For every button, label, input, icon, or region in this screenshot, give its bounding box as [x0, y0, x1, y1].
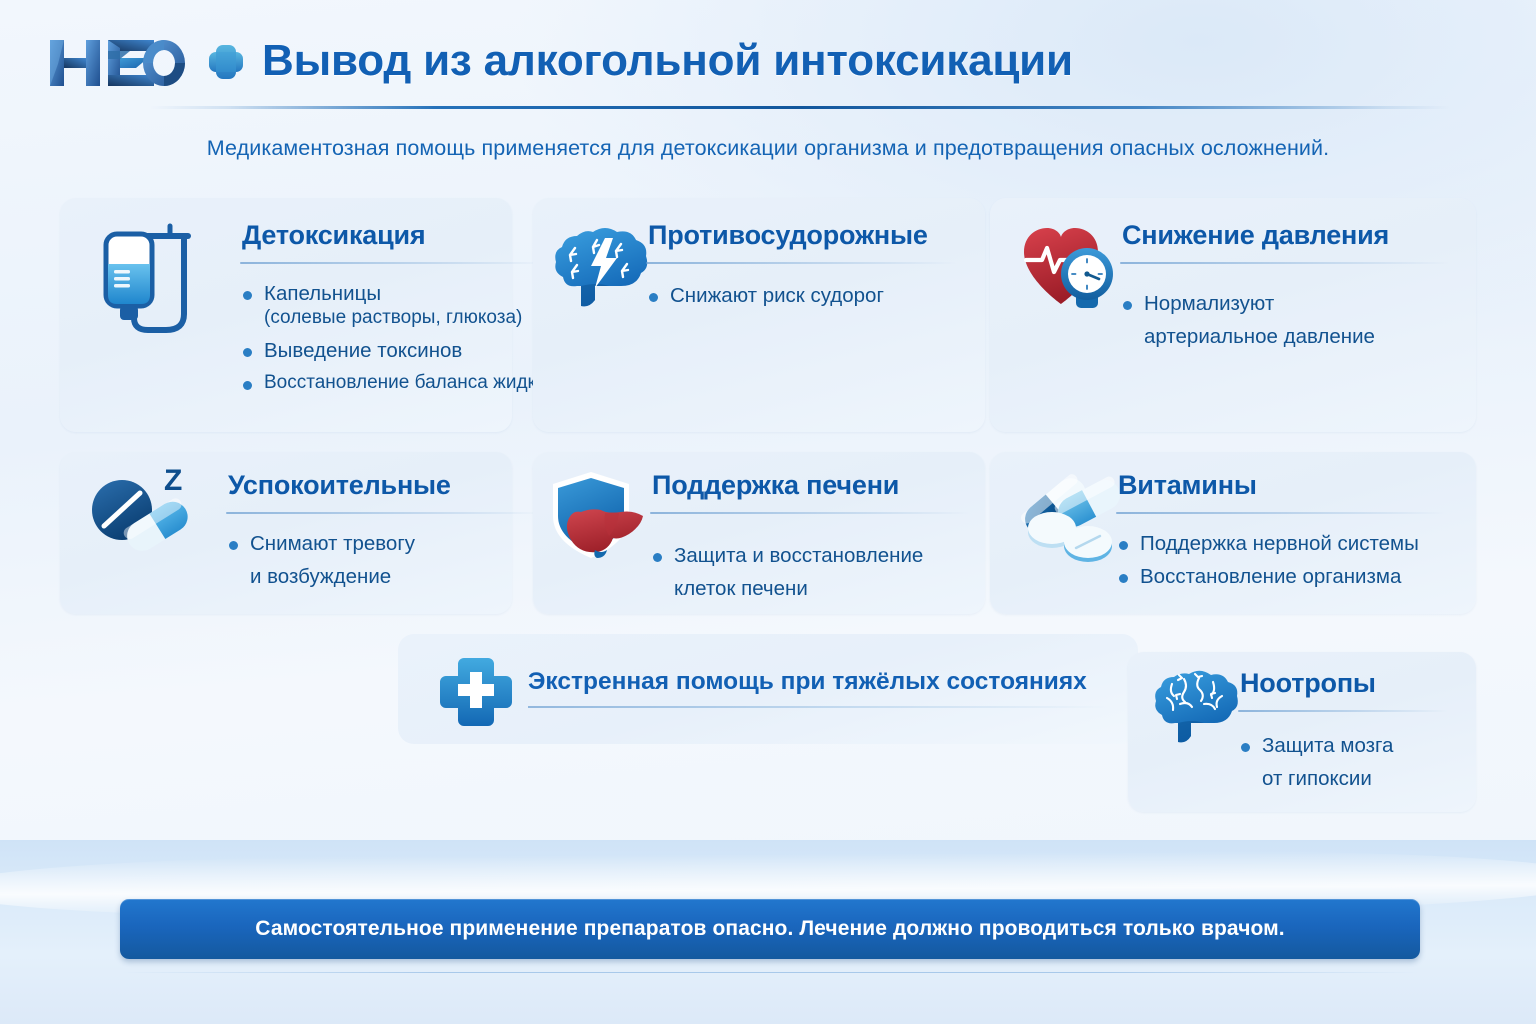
bullet-text: Поддержка нервной системы: [1140, 532, 1419, 555]
pills-capsules-icon: [1002, 462, 1128, 575]
infographic-page: Вывод из алкогольной интоксикации Медика…: [0, 0, 1536, 1024]
list-item: Восстановление баланса жидкости: [240, 370, 560, 395]
card-heading: Детоксикация: [242, 220, 425, 251]
list-item: (солевые растворы, глюкоза): [240, 305, 560, 330]
card-podderzhka-pecheni[interactable]: Поддержка печени Защита и восстановление…: [533, 452, 985, 614]
card-heading-rule: [240, 262, 550, 264]
bullet-text: Защита мозга: [1262, 734, 1393, 757]
sleeping-pill-icon: Z: [80, 460, 200, 565]
card-heading-rule: [1120, 262, 1450, 264]
card-heading: Ноотропы: [1240, 668, 1376, 699]
page-title: Вывод из алкогольной интоксикации: [262, 36, 1073, 86]
heart-pressure-gauge-icon: [1016, 216, 1126, 321]
bullet-text: и возбуждение: [250, 565, 391, 588]
card-protivosudorozhnye[interactable]: Противосудорожные Снижают риск судорог: [533, 198, 985, 432]
medical-cross-icon: [438, 656, 514, 733]
page-subtitle: Медикаментозная помощь применяется для д…: [0, 136, 1536, 161]
bullet-text: от гипоксии: [1262, 767, 1372, 790]
list-item: Выведение токсинов: [240, 337, 560, 364]
card-uspokoitelnye[interactable]: Z Успокоительные Снимают тревогу и возбу…: [60, 452, 512, 614]
list-item: Снижают риск судорог: [646, 282, 966, 309]
list-item: Поддержка нервной системы: [1116, 530, 1466, 557]
bullet-text: Выведение токсинов: [264, 339, 462, 362]
card-vitaminy[interactable]: Витамины Поддержка нервной системы Восст…: [990, 452, 1476, 614]
card-heading: Витамины: [1118, 470, 1257, 501]
card-bullet-list: Поддержка нервной системы Восстановление…: [1116, 530, 1466, 597]
iv-drip-icon: [84, 218, 194, 353]
emergency-banner[interactable]: Экстренная помощь при тяжёлых состояниях: [398, 634, 1138, 744]
card-heading-rule: [226, 512, 546, 514]
page-header: Вывод из алкогольной интоксикации: [0, 0, 1536, 112]
brain-lightning-icon: [551, 220, 655, 317]
card-heading: Снижение давления: [1122, 220, 1389, 251]
footer-hairline: [120, 972, 1420, 973]
bullet-text: Капельницы: [264, 282, 381, 305]
bullet-text: Снимают тревогу: [250, 532, 415, 555]
card-detoxikaciya[interactable]: Детоксикация Капельницы (солевые раствор…: [60, 198, 512, 432]
bullet-text: Нормализуют: [1144, 292, 1274, 315]
card-heading-rule: [646, 262, 956, 264]
list-item: и возбуждение: [226, 563, 546, 590]
bullet-text: (солевые растворы, глюкоза): [264, 307, 522, 328]
list-item: клеток печени: [650, 575, 990, 602]
list-item: Капельницы: [240, 280, 560, 307]
bullet-text: Восстановление организма: [1140, 565, 1401, 588]
bullet-text: Восстановление баланса жидкости: [264, 372, 575, 393]
list-item: артериальное давление: [1120, 323, 1460, 350]
card-bullet-list: Защита мозга от гипоксии: [1238, 732, 1468, 799]
card-heading-rule: [1116, 512, 1446, 514]
bullet-text: Защита и восстановление: [674, 544, 923, 567]
list-item: Снимают тревогу: [226, 530, 546, 557]
card-bullet-list: Защита и восстановление клеток печени: [650, 542, 990, 609]
shield-liver-icon: [547, 466, 663, 575]
list-item: от гипоксии: [1238, 765, 1468, 792]
list-item: Защита мозга: [1238, 732, 1468, 759]
list-item: Защита и восстановление: [650, 542, 990, 569]
bullet-text: артериальное давление: [1144, 325, 1375, 348]
card-heading-rule: [650, 512, 970, 514]
emergency-banner-rule: [528, 706, 1108, 708]
bullet-text: клеток печени: [674, 577, 808, 600]
card-bullet-list: Снимают тревогу и возбуждение: [226, 530, 546, 597]
card-bullet-list: Снижают риск судорог: [646, 282, 966, 315]
neo-plus-logo: [48, 34, 244, 92]
bullet-text: Снижают риск судорог: [670, 284, 884, 307]
warning-banner[interactable]: Самостоятельное применение препаратов оп…: [120, 899, 1420, 959]
emergency-banner-text: Экстренная помощь при тяжёлых состояниях: [528, 668, 1087, 696]
card-bullet-list: Нормализуют артериальное давление: [1120, 290, 1460, 357]
card-bullet-list: Капельницы (солевые растворы, глюкоза) В…: [240, 280, 560, 401]
list-item: Нормализуют: [1120, 290, 1460, 317]
brain-icon: [1150, 664, 1242, 753]
card-heading: Противосудорожные: [648, 220, 928, 251]
list-item: Восстановление организма: [1116, 563, 1466, 590]
svg-text:Z: Z: [164, 464, 182, 497]
card-snizhenie-davleniya[interactable]: Снижение давления Нормализуют артериальн…: [990, 198, 1476, 432]
card-nootropy[interactable]: Ноотропы Защита мозга от гипоксии: [1128, 652, 1476, 812]
card-heading: Успокоительные: [228, 470, 451, 501]
card-heading: Поддержка печени: [652, 470, 899, 501]
header-divider: [150, 106, 1450, 109]
warning-banner-text: Самостоятельное применение препаратов оп…: [255, 917, 1284, 941]
card-heading-rule: [1238, 710, 1448, 712]
